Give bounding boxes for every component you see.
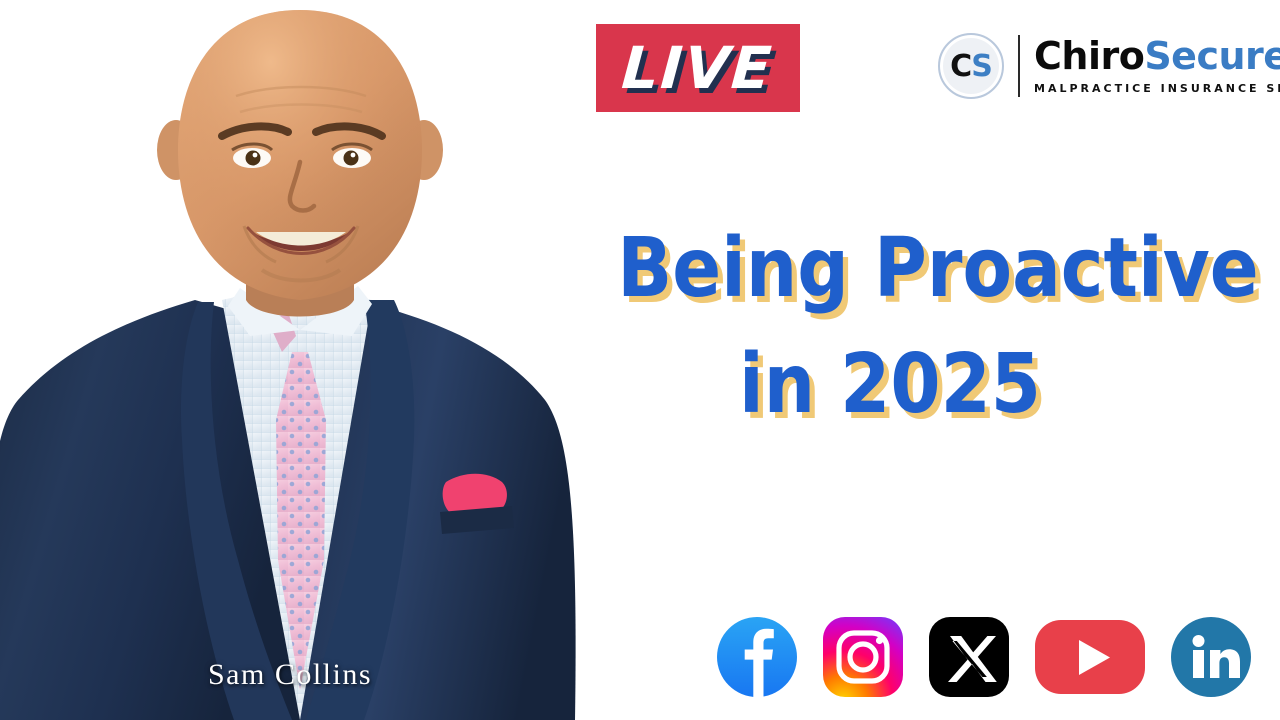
- slide-title-line-1: Being Proactive: [617, 228, 1163, 310]
- brand-text-wrap: ChiroSecure™ MALPRACTICE INSURANCE SERVI…: [1034, 37, 1280, 95]
- linkedin-icon[interactable]: [1170, 616, 1252, 698]
- brand-wordmark: ChiroSecure™: [1034, 37, 1280, 75]
- cs-monogram-icon: CS: [938, 33, 1004, 99]
- logo-divider: [1018, 35, 1020, 97]
- brand-name-part2: Secure: [1144, 34, 1280, 78]
- brand-name-part1: Chiro: [1034, 34, 1144, 78]
- youtube-icon[interactable]: [1034, 616, 1146, 698]
- cs-monogram-c: C: [950, 49, 971, 84]
- chirosecure-logo: CS ChiroSecure™ MALPRACTICE INSURANCE SE…: [938, 28, 1280, 104]
- facebook-icon[interactable]: [716, 616, 798, 698]
- slide-title-line-2: in 2025: [617, 344, 1163, 426]
- social-links-bar: [716, 612, 1256, 702]
- presentation-slide: Sam Collins LIVE CS ChiroSecure™ MALPRAC…: [0, 0, 1280, 720]
- live-badge: LIVE: [596, 24, 800, 112]
- brand-tagline: MALPRACTICE INSURANCE SERVICES: [1034, 82, 1280, 95]
- instagram-icon[interactable]: [822, 616, 904, 698]
- speaker-portrait: Sam Collins: [0, 0, 580, 720]
- slide-title: Being Proactive in 2025: [580, 228, 1200, 426]
- x-twitter-icon[interactable]: [928, 616, 1010, 698]
- live-badge-label: LIVE: [620, 39, 775, 97]
- cs-monogram-s: S: [971, 49, 992, 84]
- speaker-name-label: Sam Collins: [0, 658, 580, 692]
